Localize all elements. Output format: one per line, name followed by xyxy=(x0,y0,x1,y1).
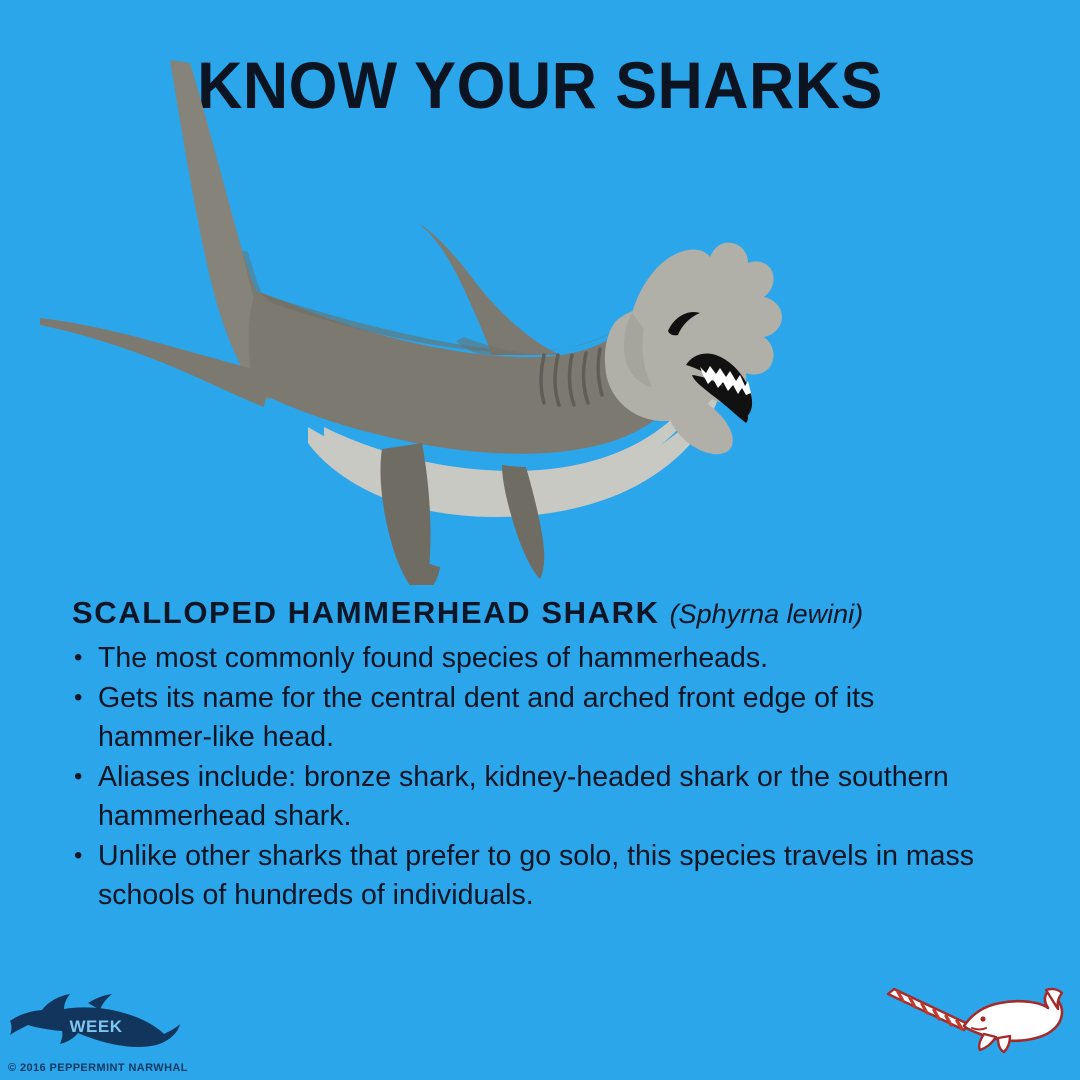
narwhal-eye-icon xyxy=(980,1016,985,1021)
first-dorsal-fin xyxy=(418,223,560,355)
shark-week-word: WEEK xyxy=(70,1017,123,1036)
list-item: Gets its name for the central dent and a… xyxy=(72,679,988,757)
list-item: The most commonly found species of hamme… xyxy=(72,639,988,678)
list-item: Aliases include: bronze shark, kidney-he… xyxy=(72,758,988,836)
scalloped-hammerhead-shark-illustration xyxy=(20,55,820,585)
narwhal-flipper-icon xyxy=(979,1034,996,1050)
species-info-block: SCALLOPED HAMMERHEAD SHARK(Sphyrna lewin… xyxy=(72,595,1012,916)
narwhal-body-icon xyxy=(964,991,1062,1041)
species-heading: SCALLOPED HAMMERHEAD SHARK(Sphyrna lewin… xyxy=(72,595,1012,631)
peppermint-narwhal-logo xyxy=(880,978,1066,1056)
copyright-notice: © 2016 PEPPERMINT NARWHAL xyxy=(8,1062,188,1074)
species-common-name: SCALLOPED HAMMERHEAD SHARK xyxy=(72,595,660,630)
poster-canvas: KNOW YOUR SHARKS xyxy=(0,0,1080,1080)
list-item: Unlike other sharks that prefer to go so… xyxy=(72,837,988,915)
fact-list: The most commonly found species of hamme… xyxy=(72,639,1012,915)
shark-week-logo: WEEK xyxy=(4,990,184,1052)
species-scientific-name: (Sphyrna lewini) xyxy=(670,599,864,629)
narwhal-flipper-2-icon xyxy=(998,1036,1010,1052)
